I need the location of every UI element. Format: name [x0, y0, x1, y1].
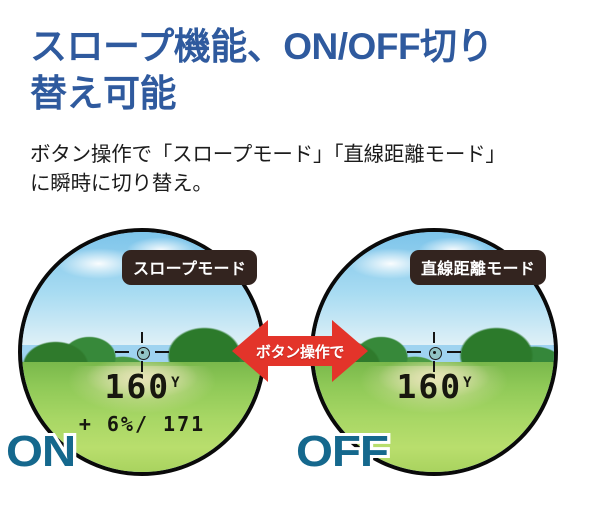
reticle-tick-right [447, 351, 461, 353]
distance-readout-left: 160Y [22, 370, 262, 403]
reticle-tick-left [407, 351, 421, 353]
distance-value-left: 160 [104, 367, 170, 406]
page-subcopy: ボタン操作で「スロープモード」「直線距離モード」 に瞬時に切り替え。 [30, 140, 582, 198]
swap-arrow-label: ボタン操作で [232, 320, 368, 382]
swap-double-arrow: ボタン操作で [232, 320, 368, 382]
reticle-center-dot [433, 351, 436, 354]
reticle-tick-left [115, 351, 129, 353]
distance-value-right: 160 [396, 367, 462, 406]
state-badge-off: OFF [296, 430, 388, 474]
crosshair-reticle-right [407, 332, 461, 372]
distance-unit-right: Y [463, 375, 471, 391]
reticle-center-dot [141, 351, 144, 354]
crosshair-reticle-left [115, 332, 169, 372]
mode-label-straight-distance: 直線距離モード [410, 250, 546, 285]
mode-label-slope: スロープモード [122, 250, 257, 285]
reticle-tick-right [155, 351, 169, 353]
reticle-tick-top [433, 332, 435, 343]
scope-slope-mode: 160Y + 6%/ 171 スロープモード ON [18, 228, 266, 476]
state-badge-on: ON [6, 430, 75, 474]
distance-unit-left: Y [171, 375, 179, 391]
reticle-tick-top [141, 332, 143, 343]
page-headline: スロープ機能、ON/OFF切り 替え可能 [30, 24, 575, 117]
